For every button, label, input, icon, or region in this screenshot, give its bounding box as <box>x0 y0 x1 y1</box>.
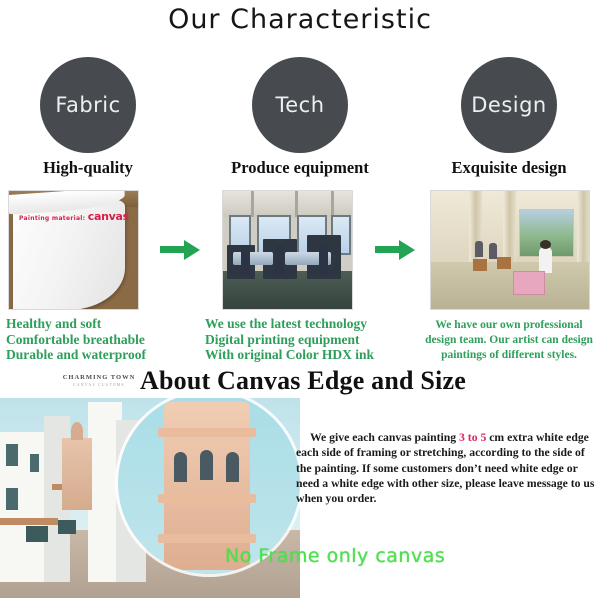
artist-far <box>475 241 483 257</box>
stool <box>497 257 511 269</box>
step-caption-fabric: High-quality <box>0 158 176 178</box>
photo-town-canvas-sample <box>0 398 300 598</box>
step-caption-design: Exquisite design <box>418 158 600 178</box>
tower-arch <box>200 450 213 480</box>
stool <box>473 259 487 271</box>
arrow-shaft <box>375 246 401 253</box>
paragraph-part1: We give each canvas painting <box>310 431 459 444</box>
feature-text-fabric: Healthy and soft Comfortable breathable … <box>6 316 146 363</box>
roof-tile <box>0 518 58 525</box>
brand-logo: CHARMING TOWN CANVAS CUSTOMS <box>56 374 142 387</box>
balcony <box>26 526 48 542</box>
canvas-roll <box>233 252 273 265</box>
tower-cornice <box>158 494 256 503</box>
canvas-caption-prefix: Painting material: <box>19 215 85 222</box>
section-title-edge-size: About Canvas Edge and Size <box>140 366 520 396</box>
window <box>6 488 18 510</box>
step-circle-tech: Tech <box>252 57 348 153</box>
tower-cornice <box>158 428 256 437</box>
arrow-head <box>399 240 415 260</box>
step-caption-tech: Produce equipment <box>192 158 408 178</box>
brand-logo-tagline: CANVAS CUSTOMS <box>56 383 142 387</box>
worker <box>241 245 250 275</box>
step-circle-label: Fabric <box>55 93 120 117</box>
photo-canvas-material: Painting material: canvas <box>8 190 139 310</box>
canvas-caption-word: canvas <box>88 210 129 223</box>
window <box>6 444 18 466</box>
arrow-right-icon <box>375 240 415 260</box>
worker <box>275 245 284 275</box>
paint-cart <box>513 271 545 295</box>
step-circle-label: Tech <box>275 93 324 117</box>
ceiling-beam <box>331 191 334 217</box>
no-frame-note: No Frame only canvas <box>225 545 445 567</box>
feature-text-tech: We use the latest technology Digital pri… <box>205 316 374 363</box>
artist-foreground <box>539 247 552 273</box>
worker <box>319 245 328 275</box>
photo-painting-studio <box>430 190 590 310</box>
step-circle-fabric: Fabric <box>40 57 136 153</box>
paragraph-highlight: 3 to 5 <box>459 431 486 444</box>
edge-size-paragraph: We give each canvas painting 3 to 5 cm e… <box>296 430 596 506</box>
artist-far <box>489 243 497 259</box>
step-circle-label: Design <box>471 93 547 117</box>
ceiling-beam <box>295 191 298 217</box>
arrow-head <box>184 240 200 260</box>
tower-arch <box>226 452 239 482</box>
feature-text-design: We have our own professional design team… <box>420 318 598 363</box>
step-circle-design: Design <box>461 57 557 153</box>
window <box>30 454 39 472</box>
arrow-right-icon <box>160 240 200 260</box>
brand-logo-name: CHARMING TOWN <box>56 374 142 381</box>
infographic-page: Our Characteristic Fabric Tech Design Hi… <box>0 0 600 600</box>
page-title: Our Characteristic <box>0 4 600 35</box>
tower-cornice <box>158 534 256 543</box>
church-tower <box>62 438 92 510</box>
photo-printing-workshop <box>222 190 353 310</box>
balcony <box>58 520 76 534</box>
canvas-material-caption: Painting material: canvas <box>19 210 139 223</box>
tower-arch <box>174 452 187 482</box>
ceiling-beam <box>251 191 254 217</box>
arrow-shaft <box>160 246 186 253</box>
